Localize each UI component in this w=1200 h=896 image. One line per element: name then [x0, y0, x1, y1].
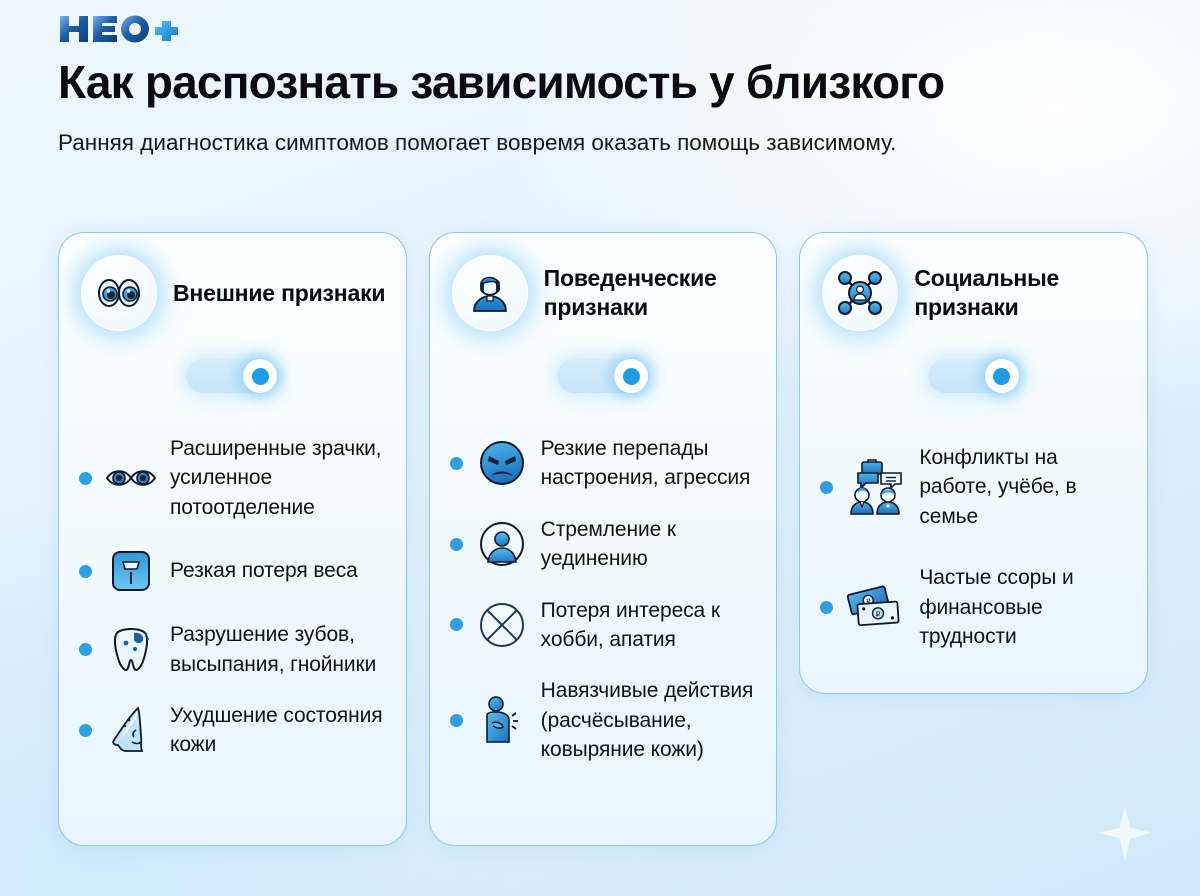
list-item-text: Ухудшение состояния кожи: [170, 701, 386, 760]
card-toggle-switch[interactable]: [186, 359, 278, 393]
toggle-knob: [614, 359, 648, 393]
list-item[interactable]: Навязчивые действия (расчёсывание, ковыр…: [450, 665, 757, 775]
toggle-knob: [243, 359, 277, 393]
weight-scale-icon: [104, 544, 158, 598]
list-item[interactable]: Конфликты на работе, учёбе, в семье: [820, 427, 1127, 547]
list-item[interactable]: Разрушение зубов, высыпания, гнойники: [79, 609, 386, 690]
bullet-dot: [450, 714, 463, 727]
brand-logo: [58, 12, 188, 46]
page-subtitle: Ранняя диагностика симптомов помогает во…: [58, 126, 958, 161]
list-item-text: Резкая потеря веса: [170, 556, 358, 585]
card-header: Социальные признаки: [822, 255, 1127, 331]
list-item[interactable]: Резкие перепады настроения, агрессия: [450, 423, 757, 504]
bullet-dot: [79, 472, 92, 485]
card-title: Поведенческие признаки: [544, 264, 757, 321]
list-item-text: Навязчивые действия (расчёсывание, ковыр…: [541, 676, 757, 764]
page-title: Как распознать зависимость у близкого: [58, 58, 1158, 108]
signs-list: Расширенные зрачки, усиленное потоотделе…: [79, 423, 386, 771]
list-item[interactable]: ₽ ₽ Частые ссоры и финансовые трудности: [820, 547, 1127, 667]
bullet-dot: [79, 565, 92, 578]
cards-container: Внешние признаки: [58, 232, 1148, 846]
list-item-text: Расширенные зрачки, усиленное потоотделе…: [170, 434, 386, 522]
person-avatar-icon: [452, 255, 528, 331]
card-header: Внешние признаки: [81, 255, 386, 331]
card-header: Поведенческие признаки: [452, 255, 757, 331]
toggle-knob: [985, 359, 1019, 393]
crossed-circle-icon: [475, 598, 529, 652]
bullet-dot: [820, 481, 833, 494]
card-behavioral-signs[interactable]: Поведенческие признаки: [429, 232, 778, 846]
angry-face-icon: [475, 436, 529, 490]
scratching-person-icon: [475, 693, 529, 747]
list-item[interactable]: Резкая потеря веса: [79, 533, 386, 609]
eyes-icon: [81, 255, 157, 331]
list-item-text: Резкие перепады настроения, агрессия: [541, 434, 757, 493]
dilated-pupils-icon: [104, 451, 158, 505]
list-item[interactable]: Стремление к уединению: [450, 504, 757, 585]
people-conflict-icon: [845, 458, 907, 516]
list-item-text: Потеря интереса к хобби, апатия: [541, 596, 757, 655]
toggle-row: [450, 359, 757, 393]
bullet-dot: [79, 724, 92, 737]
list-item-text: Частые ссоры и финансовые трудности: [919, 563, 1127, 651]
card-title: Социальные признаки: [914, 264, 1127, 321]
card-social-signs[interactable]: Социальные признаки: [799, 232, 1148, 694]
bullet-dot: [450, 618, 463, 631]
list-item-text: Конфликты на работе, учёбе, в семье: [919, 443, 1127, 531]
card-toggle-switch[interactable]: [928, 359, 1020, 393]
card-external-signs[interactable]: Внешние признаки: [58, 232, 407, 846]
bullet-dot: [79, 643, 92, 656]
banknotes-icon: ₽ ₽: [845, 578, 907, 636]
signs-list: Конфликты на работе, учёбе, в семье ₽: [820, 427, 1127, 667]
bullet-dot: [450, 538, 463, 551]
list-item-text: Стремление к уединению: [541, 515, 757, 574]
card-toggle-switch[interactable]: [557, 359, 649, 393]
list-item[interactable]: Ухудшение состояния кожи: [79, 690, 386, 771]
signs-list: Резкие перепады настроения, агрессия Стр…: [450, 423, 757, 776]
svg-text:₽: ₽: [876, 610, 882, 619]
list-item[interactable]: Расширенные зрачки, усиленное потоотделе…: [79, 423, 386, 533]
person-circle-icon: [475, 517, 529, 571]
card-title: Внешние признаки: [173, 279, 385, 308]
bullet-dot: [450, 457, 463, 470]
list-item-text: Разрушение зубов, высыпания, гнойники: [170, 620, 386, 679]
toggle-row: [79, 359, 386, 393]
toggle-row: [820, 359, 1127, 393]
bullet-dot: [820, 601, 833, 614]
social-network-icon: [822, 255, 898, 331]
decayed-tooth-icon: [104, 623, 158, 677]
list-item[interactable]: Потеря интереса к хобби, апатия: [450, 585, 757, 666]
face-profile-icon: [104, 703, 158, 757]
